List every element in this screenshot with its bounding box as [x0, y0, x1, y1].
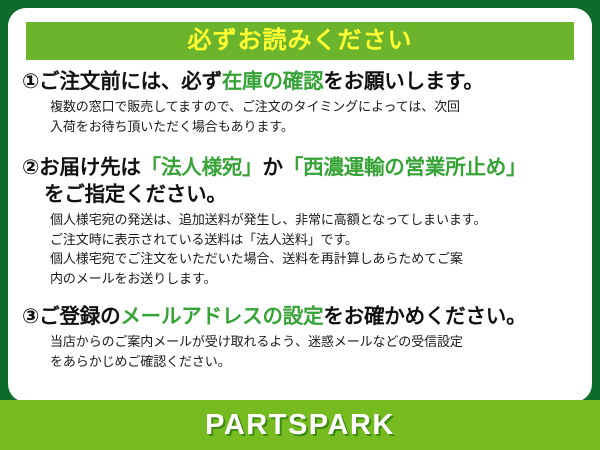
item-3-heading-post: をお確かめください。	[323, 305, 526, 328]
item-2-heading: ②お届け先は「法人様宛」か「西濃運輸の営業所止め」をご指定ください。	[22, 154, 578, 208]
banner-title: 必ずお読みください	[188, 29, 413, 53]
item-3-marker: ③	[22, 305, 39, 328]
item-1-heading: ①ご注文前には、必ず在庫の確認をお願いします。	[22, 68, 578, 95]
item-2-heading-highlight-2: 「西濃運輸の営業所止め」	[283, 156, 527, 179]
item-2-body: 個人様宅宛の発送は、追加送料が発生し、非常に高額となってしまいます。 ご注文時に…	[22, 210, 578, 288]
notice-item-2: ②お届け先は「法人様宛」か「西濃運輸の営業所止め」をご指定ください。 個人様宅宛…	[22, 154, 578, 288]
item-2-marker: ②	[22, 156, 39, 179]
item-2-body-line-2: ご注文時に表示されている送料は「法人送料」です。	[50, 230, 578, 250]
item-3-body-line-1: 当店からのご案内メールが受け取れるよう、迷惑メールなどの受信設定	[50, 332, 578, 352]
item-3-body-line-2: をあらかじめご確認ください。	[50, 352, 578, 372]
notice-content: ①ご注文前には、必ず在庫の確認をお願いします。 複数の窓口で販売してますので、ご…	[22, 68, 578, 375]
item-1-heading-highlight: 在庫の確認	[222, 70, 324, 93]
item-1-marker: ①	[22, 70, 39, 93]
notice-panel: 必ずお読みください ①ご注文前には、必ず在庫の確認をお願いします。 複数の窓口で…	[8, 8, 592, 402]
notice-item-3: ③ご登録のメールアドレスの設定をお確かめください。 当店からのご案内メールが受け…	[22, 303, 578, 371]
spacer-1	[22, 140, 578, 154]
title-banner: 必ずお読みください	[26, 22, 574, 60]
notice-card: 必ずお読みください ①ご注文前には、必ず在庫の確認をお願いします。 複数の窓口で…	[0, 0, 600, 450]
item-2-body-line-3: 個人様宅宛でご注文をいただいた場合、送料を再計算しあらためてご案	[50, 249, 578, 269]
item-2-body-line-1: 個人様宅宛の発送は、追加送料が発生し、非常に高額となってしまいます。	[50, 210, 578, 230]
item-2-body-line-4: 内のメールをお送りします。	[50, 269, 578, 289]
item-3-body: 当店からのご案内メールが受け取れるよう、迷惑メールなどの受信設定 をあらかじめご…	[22, 332, 578, 371]
item-2-heading-pre: お届け先は	[39, 156, 141, 179]
item-3-heading: ③ご登録のメールアドレスの設定をお確かめください。	[22, 303, 578, 330]
item-3-heading-highlight: メールアドレスの設定	[120, 305, 323, 328]
item-2-heading-highlight: 「法人様宛」	[141, 156, 263, 179]
item-1-heading-post: をお願いします。	[323, 70, 483, 93]
notice-item-1: ①ご注文前には、必ず在庫の確認をお願いします。 複数の窓口で販売してますので、ご…	[22, 68, 578, 136]
item-2-heading-mid: か	[262, 156, 282, 179]
item-3-heading-pre: ご登録の	[39, 305, 120, 328]
item-1-heading-pre: ご注文前には、必ず	[39, 70, 222, 93]
item-1-body-line-2: 入荷をお待ち頂いただく場合もあります。	[50, 117, 578, 137]
partspark-logo: PARTSPARK	[205, 411, 395, 440]
item-1-body-line-1: 複数の窓口で販売してますので、ご注文のタイミングによっては、次回	[50, 97, 578, 117]
item-2-heading-line-2: をご指定ください。	[22, 181, 578, 208]
item-1-body: 複数の窓口で販売してますので、ご注文のタイミングによっては、次回 入荷をお待ち頂…	[22, 97, 578, 136]
spacer-2	[22, 292, 578, 303]
footer-bar: PARTSPARK	[0, 400, 600, 450]
